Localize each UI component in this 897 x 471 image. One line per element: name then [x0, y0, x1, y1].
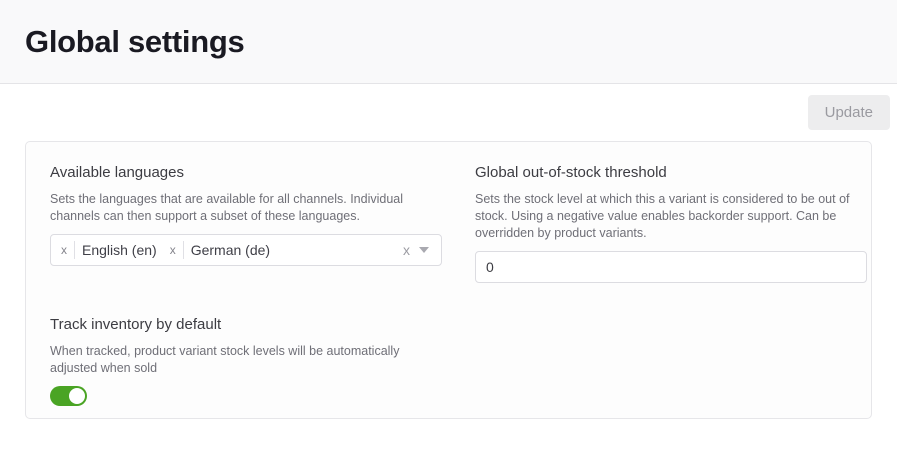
update-button[interactable]: Update: [808, 95, 890, 130]
row-2-spacer: [475, 316, 867, 411]
field-available-languages: Available languages Sets the languages t…: [50, 164, 442, 283]
language-chip[interactable]: x English (en): [56, 239, 157, 261]
settings-row-2: Track inventory by default When tracked,…: [50, 316, 847, 411]
clear-all-icon[interactable]: x: [394, 243, 419, 257]
multiselect-actions: x: [394, 243, 437, 257]
close-icon[interactable]: x: [56, 244, 74, 256]
out-of-stock-threshold-label: Global out-of-stock threshold: [475, 164, 867, 182]
page-title: Global settings: [25, 26, 244, 57]
language-chip-label: English (en): [82, 243, 157, 257]
track-inventory-toggle[interactable]: [50, 386, 87, 406]
out-of-stock-threshold-description: Sets the stock level at which this a var…: [475, 191, 867, 242]
settings-row-1: Available languages Sets the languages t…: [50, 164, 847, 283]
page-header: Global settings: [0, 0, 897, 84]
field-track-inventory: Track inventory by default When tracked,…: [50, 316, 442, 411]
out-of-stock-threshold-input[interactable]: [475, 251, 867, 283]
track-inventory-label: Track inventory by default: [50, 316, 442, 334]
action-bar: Update: [0, 84, 897, 140]
available-languages-label: Available languages: [50, 164, 442, 182]
track-inventory-description: When tracked, product variant stock leve…: [50, 343, 442, 377]
field-out-of-stock-threshold: Global out-of-stock threshold Sets the s…: [475, 164, 867, 283]
chip-divider: [183, 241, 184, 259]
available-languages-multiselect[interactable]: x English (en) x German (de) x: [50, 234, 442, 266]
selected-language-chips: x English (en) x German (de): [56, 239, 394, 261]
chip-divider: [74, 241, 75, 259]
toggle-knob: [69, 388, 85, 404]
language-chip[interactable]: x German (de): [165, 239, 270, 261]
language-chip-label: German (de): [191, 243, 270, 257]
close-icon[interactable]: x: [165, 244, 183, 256]
available-languages-description: Sets the languages that are available fo…: [50, 191, 442, 225]
chevron-down-icon[interactable]: [419, 247, 429, 253]
settings-card: Available languages Sets the languages t…: [25, 141, 872, 419]
